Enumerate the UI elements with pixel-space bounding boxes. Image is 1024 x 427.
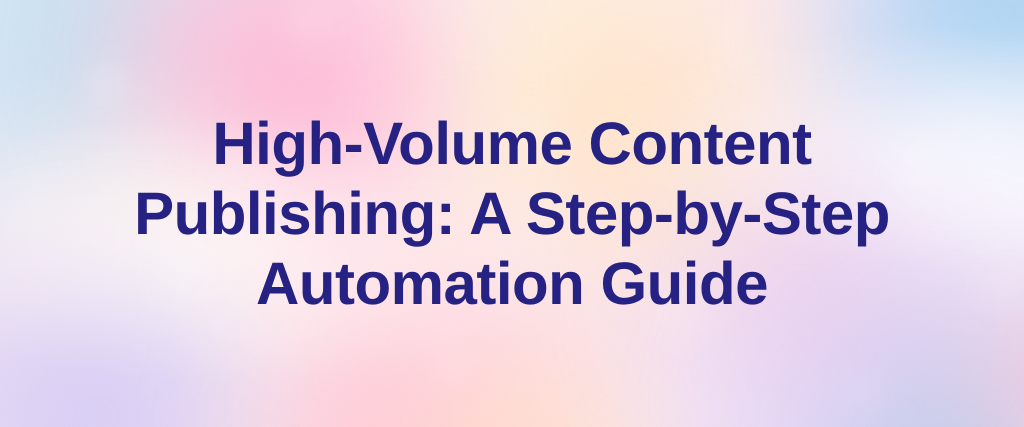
- page-title-line-2: Publishing: A Step-by-Step: [134, 179, 890, 249]
- page-title-line-1: High-Volume Content: [134, 109, 890, 179]
- page-title: High-Volume Content Publishing: A Step-b…: [134, 109, 890, 319]
- article-header-banner: High-Volume Content Publishing: A Step-b…: [0, 0, 1024, 427]
- title-container: High-Volume Content Publishing: A Step-b…: [0, 0, 1024, 427]
- page-title-line-3: Automation Guide: [134, 249, 890, 319]
